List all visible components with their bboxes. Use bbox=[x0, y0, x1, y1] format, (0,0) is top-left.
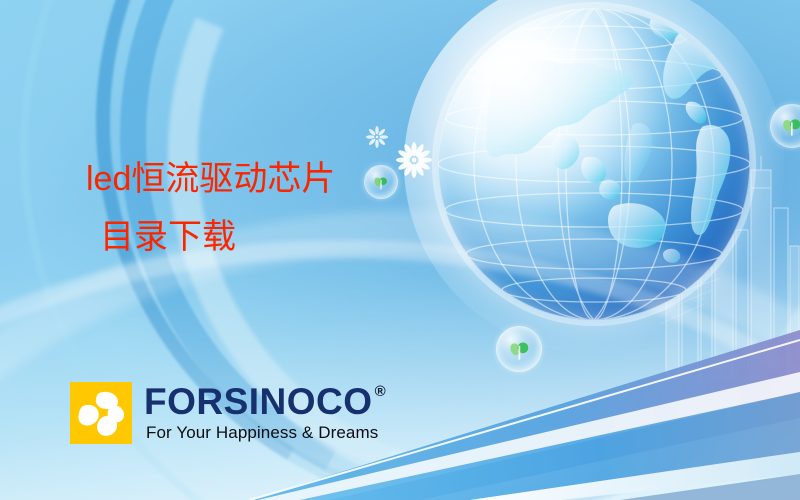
starburst-icon bbox=[396, 142, 432, 178]
pinwheel-petals bbox=[70, 382, 132, 444]
sprout-icon bbox=[780, 114, 800, 138]
logo-wordmark-text: FORSINOCO bbox=[144, 383, 373, 420]
four-petal-pinwheel-icon bbox=[70, 382, 132, 444]
promo-banner: led恒流驱动芯片 目录下载 FORSINOCO ® For Your Happ… bbox=[0, 0, 800, 500]
sprout-icon bbox=[372, 173, 390, 191]
headline-line-1: led恒流驱动芯片 bbox=[86, 162, 335, 196]
starburst-icon bbox=[366, 126, 388, 148]
registered-trademark-icon: ® bbox=[375, 384, 387, 399]
logo-wordmark: FORSINOCO ® bbox=[144, 383, 386, 420]
headline-line-2: 目录下载 bbox=[100, 220, 335, 254]
sprout-icon bbox=[507, 337, 532, 362]
logo-text-block: FORSINOCO ® For Your Happiness & Dreams bbox=[144, 383, 386, 443]
brand-logo[interactable]: FORSINOCO ® For Your Happiness & Dreams bbox=[70, 382, 386, 444]
bubble-with-sprout bbox=[496, 326, 542, 372]
bubble-with-sprout bbox=[364, 165, 398, 199]
page-title: led恒流驱动芯片 目录下载 bbox=[86, 162, 335, 254]
logo-tagline: For Your Happiness & Dreams bbox=[146, 423, 386, 443]
